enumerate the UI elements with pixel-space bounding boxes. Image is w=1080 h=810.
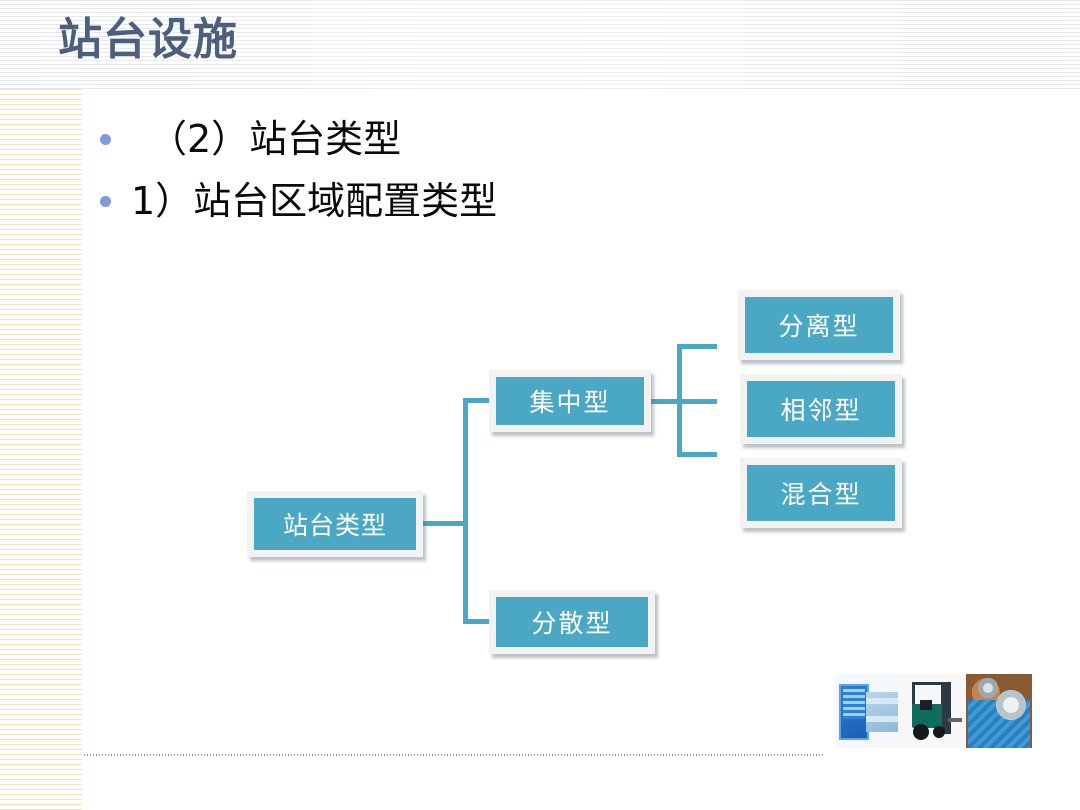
connector-root-out: [423, 521, 468, 526]
forklift-seat-shape: [920, 700, 932, 710]
connector-to-separate: [677, 344, 717, 349]
forklift-wheel-shape: [933, 726, 945, 738]
forklift-fork-shape: [948, 718, 962, 722]
bullet-text: （2）站台类型: [131, 120, 401, 158]
connector-to-mixed: [677, 452, 717, 457]
left-rail-edge: [82, 89, 84, 810]
node-inner: 站台类型: [254, 498, 416, 550]
node-inner: 分离型: [745, 297, 893, 353]
list-item: （2）站台类型: [100, 108, 800, 170]
bullet-dot-icon: [100, 134, 111, 145]
node-label: 站台类型: [283, 506, 387, 542]
node-inner: 集中型: [496, 377, 644, 425]
node-inner: 分散型: [496, 597, 648, 647]
list-item: 1）站台区域配置类型: [100, 170, 800, 232]
gears-in-bag-photo: [966, 674, 1032, 748]
thumbnail-strip: [836, 674, 1032, 748]
left-decorative-rail: [0, 89, 82, 810]
diagram-node-mixed[interactable]: 混合型: [740, 458, 902, 528]
node-label: 混合型: [780, 475, 861, 511]
diagram-node-separated[interactable]: 分离型: [738, 290, 900, 360]
connector-to-adjacent: [677, 399, 717, 404]
node-inner: 混合型: [747, 465, 895, 521]
node-label: 分离型: [778, 307, 859, 343]
diagram-node-dispersed[interactable]: 分散型: [489, 590, 655, 654]
connector-spine-level1: [463, 398, 468, 624]
node-inner: 相邻型: [747, 381, 895, 437]
bullet-dot-icon: [100, 196, 111, 207]
diagram-node-centralized[interactable]: 集中型: [489, 370, 651, 432]
pallet-rack-shape: [866, 692, 898, 732]
diagram-node-adjacent[interactable]: 相邻型: [740, 374, 902, 444]
node-label: 集中型: [529, 383, 610, 419]
diagram-node-root[interactable]: 站台类型: [247, 491, 423, 557]
footer-dotted-rule: [84, 754, 824, 756]
bullet-list: （2）站台类型 1）站台区域配置类型: [100, 108, 800, 232]
gear-shape: [978, 678, 998, 698]
gear-shape: [996, 690, 1026, 720]
forklift-wheel-shape: [913, 724, 929, 740]
forklift-photo: [900, 674, 966, 748]
pallet-stack-shape: [839, 684, 869, 740]
node-label: 分散型: [531, 604, 612, 640]
slide-canvas: 站台设施 （2）站台类型 1）站台区域配置类型 站台类型: [0, 0, 1080, 810]
plastic-pallets-photo: [836, 674, 900, 748]
page-title: 站台设施: [58, 16, 238, 64]
node-label: 相邻型: [780, 391, 861, 427]
bullet-text: 1）站台区域配置类型: [131, 182, 497, 220]
